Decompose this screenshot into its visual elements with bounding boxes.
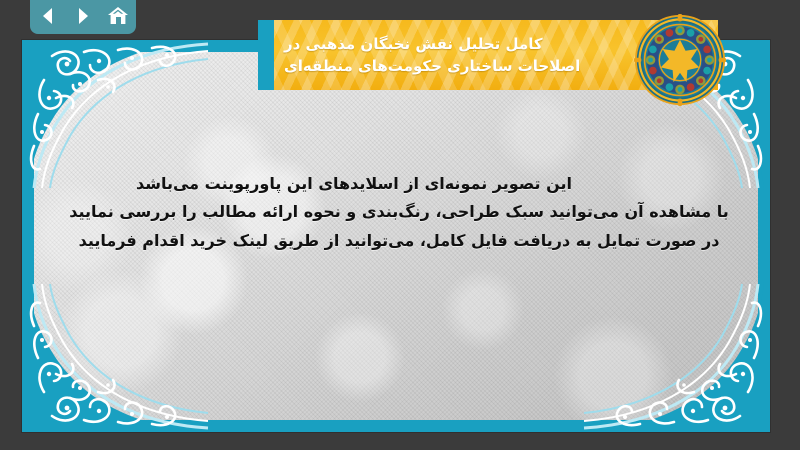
body-line-3: در صورت تمایل به دریافت فایل کامل، می‌تو…: [58, 227, 740, 255]
forward-arrow-icon: [73, 6, 93, 26]
home-icon: [107, 6, 129, 26]
navigation-bar: [30, 0, 136, 34]
forward-button[interactable]: [70, 3, 96, 29]
persian-mandala-icon: [634, 14, 726, 106]
title-line-1: کامل تحلیل نقش نخبگان مذهبی در: [284, 33, 543, 56]
screen: این تصویر نمونه‌ای از اسلایدهای این پاور…: [0, 0, 800, 450]
home-button[interactable]: [105, 3, 131, 29]
title-line-2: اصلاحات ساختاری حکومت‌های منطقه‌ای: [284, 55, 580, 78]
title-banner: کامل تحلیل نقش نخبگان مذهبی در اصلاحات س…: [258, 20, 718, 90]
slide-body-text: این تصویر نمونه‌ای از اسلایدهای این پاور…: [58, 170, 740, 255]
body-line-2: با مشاهده آن می‌توانید سبک طراحی، رنگ‌بن…: [58, 198, 740, 226]
back-button[interactable]: [35, 3, 61, 29]
body-line-1: این تصویر نمونه‌ای از اسلایدهای این پاور…: [58, 170, 740, 198]
back-arrow-icon: [38, 6, 58, 26]
banner-left-accent: [258, 20, 274, 90]
